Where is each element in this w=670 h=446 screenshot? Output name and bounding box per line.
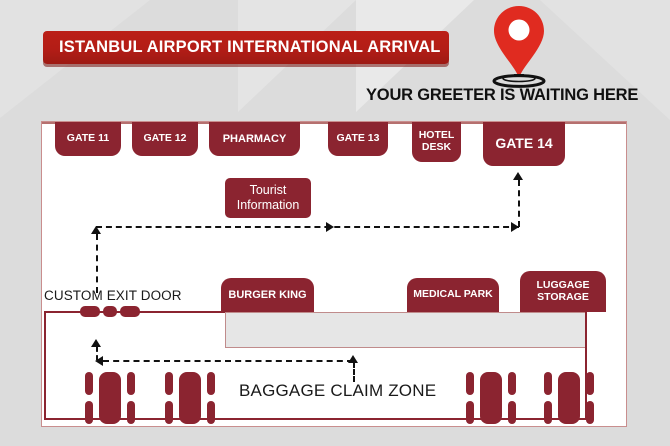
gate-11[interactable]: GATE 11 [55, 122, 121, 156]
map-pin-icon [487, 4, 551, 88]
route-bottom-horizontal [103, 360, 353, 362]
luggage-storage-label-line2: STORAGE [537, 292, 589, 304]
medical-park[interactable]: MEDICAL PARK [407, 278, 499, 312]
carousel-bar [508, 401, 516, 424]
baggage-carousel [465, 372, 517, 424]
arrival-map-infographic: ISTANBUL AIRPORT INTERNATIONAL ARRIVAL Y… [0, 0, 670, 446]
gate-14-label: GATE 14 [495, 136, 552, 152]
tourist-information[interactable]: Tourist Information [225, 178, 311, 218]
tourist-info-label-line2: Information [237, 198, 300, 213]
exit-door-panel[interactable] [120, 306, 140, 317]
burger-king-label: BURGER KING [228, 289, 306, 301]
gate-13[interactable]: GATE 13 [328, 122, 388, 156]
route-top-horizontal [96, 226, 519, 228]
carousel-bar [586, 401, 594, 424]
route-arrow-left [95, 356, 103, 366]
tourist-info-label-line1: Tourist [250, 183, 287, 198]
carousel-belt [179, 372, 201, 424]
corridor-band [225, 312, 587, 348]
route-right-vertical [518, 180, 520, 227]
carousel-bar [85, 401, 93, 424]
hotel-desk[interactable]: HOTEL DESK [412, 122, 461, 162]
title-banner: ISTANBUL AIRPORT INTERNATIONAL ARRIVAL [43, 31, 449, 64]
carousel-belt [99, 372, 121, 424]
carousel-bar [508, 372, 516, 395]
luggage-storage[interactable]: LUGGAGE STORAGE [520, 271, 606, 312]
carousel-bar [466, 401, 474, 424]
hall-left-wall [44, 312, 46, 419]
exit-door-panel[interactable] [80, 306, 100, 317]
burger-king[interactable]: BURGER KING [221, 278, 314, 312]
carousel-bar [207, 401, 215, 424]
route-baggage-riser [353, 362, 355, 382]
gate-11-label: GATE 11 [67, 133, 109, 145]
carousel-bar [85, 372, 93, 395]
carousel-bar [586, 372, 594, 395]
route-arrow-up [91, 226, 101, 234]
carousel-bar [466, 372, 474, 395]
route-arrow-up [348, 355, 358, 363]
route-arrow-up [91, 339, 101, 347]
gate-13-label: GATE 13 [337, 133, 380, 145]
carousel-bar [165, 372, 173, 395]
pharmacy[interactable]: PHARMACY [209, 122, 300, 156]
medical-park-label: MEDICAL PARK [413, 289, 493, 301]
page-title: ISTANBUL AIRPORT INTERNATIONAL ARRIVAL [43, 38, 441, 57]
route-arrow-right [326, 222, 334, 232]
hotel-desk-label-line2: DESK [422, 142, 451, 154]
baggage-carousel [164, 372, 216, 424]
baggage-carousel [84, 372, 136, 424]
carousel-bar [544, 401, 552, 424]
carousel-bar [544, 372, 552, 395]
carousel-bar [165, 401, 173, 424]
luggage-storage-label-line1: LUGGAGE [536, 280, 589, 292]
carousel-bar [127, 372, 135, 395]
carousel-belt [480, 372, 502, 424]
gate-12-label: GATE 12 [144, 133, 187, 145]
route-arrow-up [513, 172, 523, 180]
exit-door-panel[interactable] [103, 306, 117, 317]
pharmacy-label: PHARMACY [223, 133, 287, 145]
gate-12[interactable]: GATE 12 [132, 122, 198, 156]
custom-exit-door-label: CUSTOM EXIT DOOR [44, 288, 182, 303]
greeter-label: YOUR GREETER IS WAITING HERE [366, 86, 666, 105]
baggage-claim-zone-label: BAGGAGE CLAIM ZONE [239, 381, 436, 401]
route-left-vertical-upper [96, 234, 98, 293]
carousel-bar [207, 372, 215, 395]
carousel-belt [558, 372, 580, 424]
gate-14[interactable]: GATE 14 [483, 122, 565, 166]
carousel-bar [127, 401, 135, 424]
baggage-carousel [543, 372, 595, 424]
